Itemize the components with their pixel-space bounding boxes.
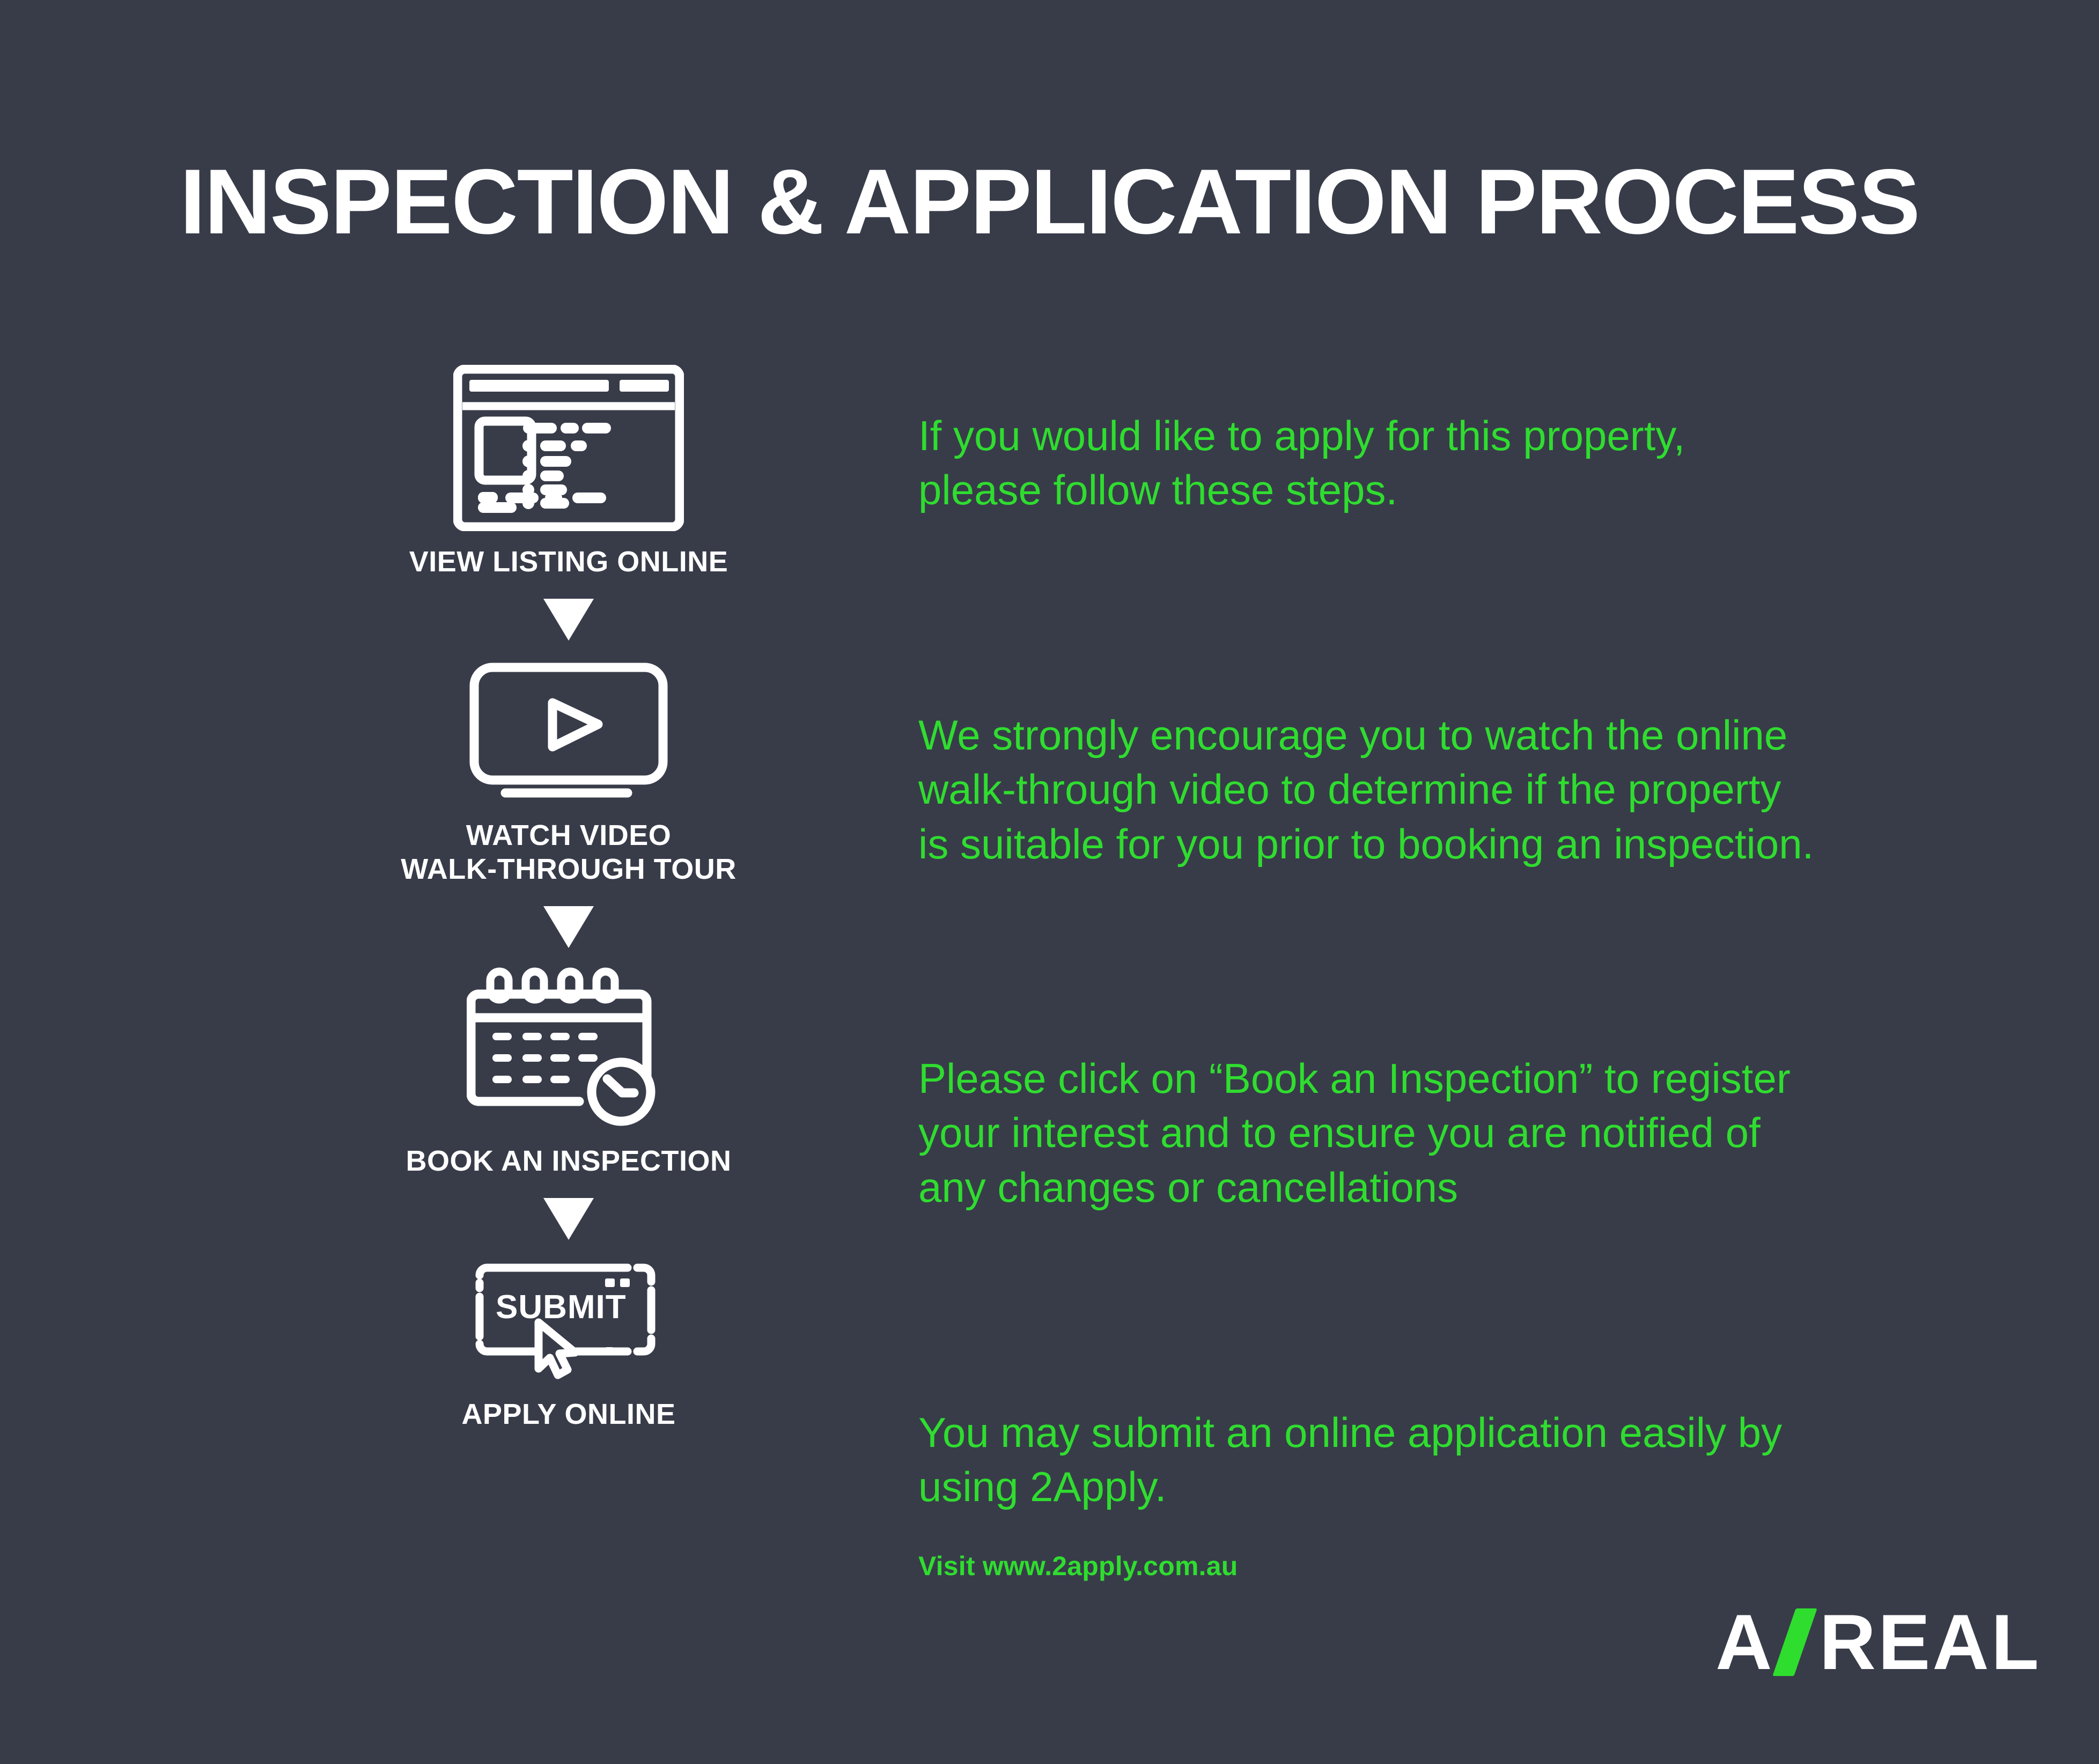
arrow-down-icon	[543, 599, 594, 641]
step-label: APPLY ONLINE	[300, 1398, 837, 1432]
arrow-down-icon	[543, 906, 594, 948]
step-apply-online: SUBMIT APPLY ONLINE	[300, 1255, 837, 1432]
submit-button-cursor-icon: SUBMIT	[467, 1255, 671, 1384]
connector-2	[300, 906, 837, 948]
step-book-inspection: BOOK AN INSPECTION	[300, 964, 837, 1179]
page-title: INSPECTION & APPLICATION PROCESS	[0, 156, 2099, 248]
paragraph-apply-steps: If you would like to apply for this prop…	[918, 409, 1938, 518]
logo-slash-icon	[1772, 1608, 1817, 1676]
paragraph-book-inspection: Please click on “Book an Inspection” to …	[918, 1052, 1927, 1215]
paragraph-watch-video: We strongly encourage you to watch the o…	[918, 708, 1938, 871]
submit-icon-label: SUBMIT	[496, 1289, 627, 1326]
visit-url-text[interactable]: Visit www.2apply.com.au	[918, 1550, 1238, 1582]
paragraph-apply-2apply: You may submit an online application eas…	[918, 1406, 1884, 1515]
logo-word-real: REAL	[1820, 1603, 2041, 1681]
step-view-listing-online: VIEW LISTING ONLINE	[300, 365, 837, 579]
step-watch-video: WATCH VIDEO WALK-THROUGH TOUR	[300, 660, 837, 887]
step-label: BOOK AN INSPECTION	[300, 1144, 837, 1179]
infographic-canvas: INSPECTION & APPLICATION PROCESS	[0, 0, 2099, 1764]
areal-logo: A REAL	[1715, 1603, 2041, 1681]
process-flow-column: VIEW LISTING ONLINE WATCH VIDEO WALK-THR…	[300, 365, 837, 1432]
arrow-down-icon	[543, 1198, 594, 1240]
logo-letter-a: A	[1715, 1603, 1774, 1681]
connector-1	[300, 599, 837, 641]
listing-window-icon	[453, 365, 684, 531]
calendar-clock-icon	[467, 964, 671, 1130]
connector-3	[300, 1198, 837, 1240]
step-label: VIEW LISTING ONLINE	[300, 545, 837, 579]
step-label: WATCH VIDEO WALK-THROUGH TOUR	[300, 819, 837, 887]
video-player-icon	[467, 660, 671, 805]
